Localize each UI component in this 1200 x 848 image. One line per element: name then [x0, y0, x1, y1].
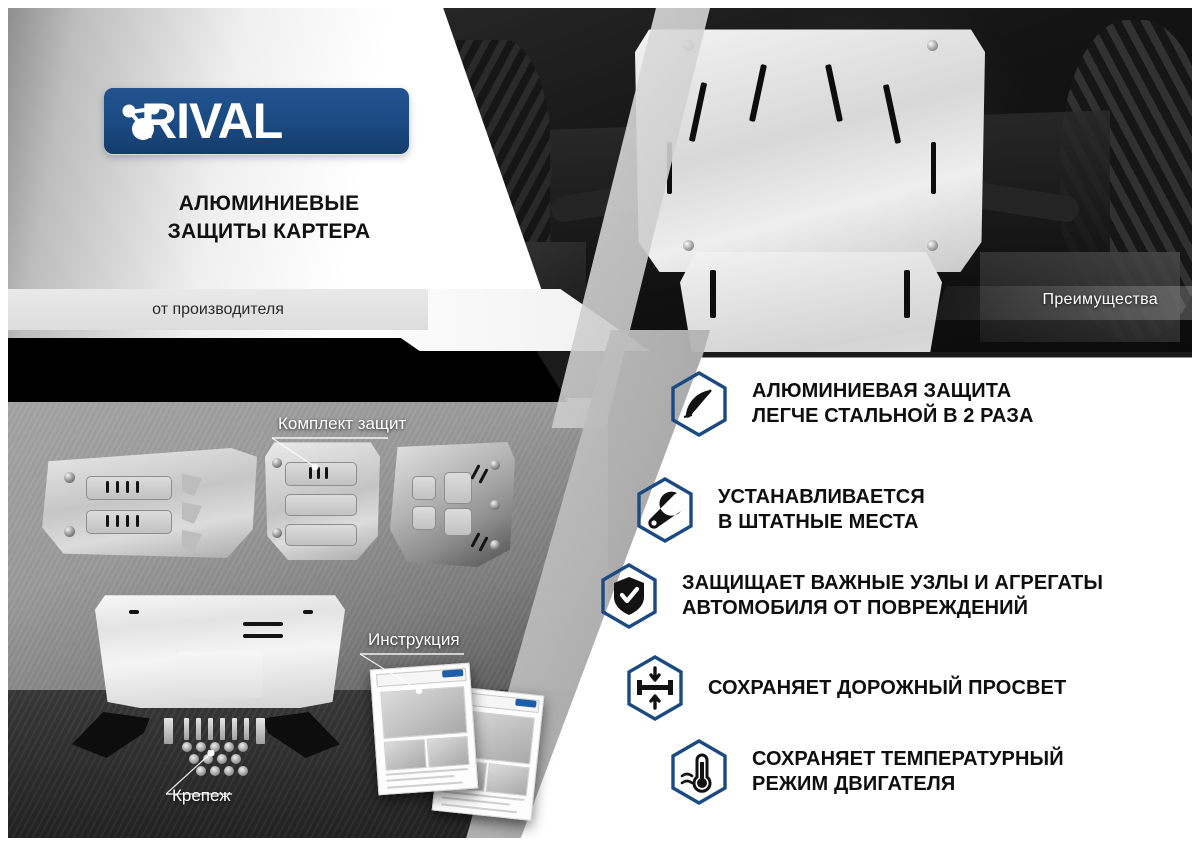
skid-plate-left [42, 448, 257, 558]
sheet-diagram [380, 686, 467, 738]
poster-root: Преимущества [0, 0, 1200, 848]
sheet-photo-2 [486, 763, 530, 796]
ground-clearance-icon [624, 654, 686, 722]
leader-line-instruction [358, 648, 466, 694]
page-title: АЛЮМИНИЕВЫЕ ЗАЩИТЫ КАРТЕРА [104, 190, 434, 246]
wrench-icon [634, 476, 696, 544]
rival-logo-text: RIVAL [141, 90, 282, 152]
frame-top [0, 0, 1200, 8]
benefit-text-temperature: СОХРАНЯЕТ ТЕМПЕРАТУРНЫЙ РЕЖИМ ДВИГАТЕЛЯ [752, 747, 1064, 797]
subtitle-band: от производителя [8, 289, 428, 330]
leader-line-kit [270, 430, 390, 470]
benefit-item-protection: ЗАЩИЩАЕТ ВАЖНЫЕ УЗЛЫ И АГРЕГАТЫ АВТОМОБИ… [598, 562, 1103, 630]
headline-line-2: ЗАЩИТЫ КАРТЕРА [104, 218, 434, 246]
benefit-item-weight: АЛЮМИНИЕВАЯ ЗАЩИТА ЛЕГЧЕ СТАЛЬНОЙ В 2 РА… [668, 370, 1034, 438]
shield-check-icon [598, 562, 660, 630]
label-instruction: Инструкция [368, 630, 460, 650]
benefit-text-protection: ЗАЩИЩАЕТ ВАЖНЫЕ УЗЛЫ И АГРЕГАТЫ АВТОМОБИ… [682, 571, 1103, 621]
benefit-text-fitment: УСТАНАВЛИВАЕТСЯ В ШТАТНЫЕ МЕСТА [718, 485, 925, 535]
sheet-photo-2 [427, 736, 470, 768]
skid-plate-right [390, 442, 515, 567]
subtitle-text: от производителя [152, 301, 284, 319]
thermometer-icon [668, 738, 730, 806]
label-hardware: Крепеж [172, 786, 231, 806]
sheet-photo-1 [384, 739, 427, 771]
rival-logo: RIVAL [104, 88, 409, 154]
benefit-item-temperature: СОХРАНЯЕТ ТЕМПЕРАТУРНЫЙ РЕЖИМ ДВИГАТЕЛЯ [668, 738, 1064, 806]
frame-left [0, 0, 8, 848]
headline-line-1: АЛЮМИНИЕВЫЕ [104, 190, 434, 218]
feather-icon [668, 370, 730, 438]
engine-skid-plate-large [95, 588, 345, 708]
benefit-text-clearance: СОХРАНЯЕТ ДОРОЖНЫЙ ПРОСВЕТ [708, 676, 1066, 701]
benefit-item-fitment: УСТАНАВЛИВАЕТСЯ В ШТАТНЫЕ МЕСТА [634, 476, 925, 544]
frame-right [1192, 0, 1200, 848]
benefits-list: АЛЮМИНИЕВАЯ ЗАЩИТА ЛЕГЧЕ СТАЛЬНОЙ В 2 РА… [520, 8, 1192, 840]
label-kit: Комплект защит [278, 414, 406, 434]
benefit-item-clearance: СОХРАНЯЕТ ДОРОЖНЫЙ ПРОСВЕТ [624, 654, 1066, 722]
frame-bottom [0, 838, 1200, 848]
benefit-text-weight: АЛЮМИНИЕВАЯ ЗАЩИТА ЛЕГЧЕ СТАЛЬНОЙ В 2 РА… [752, 379, 1034, 429]
